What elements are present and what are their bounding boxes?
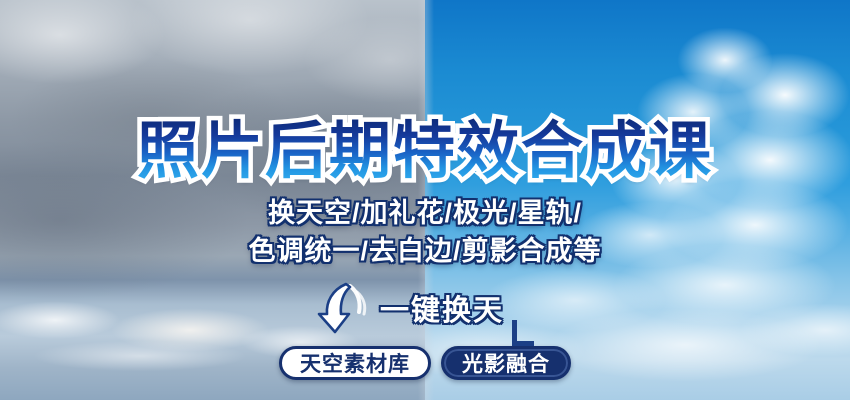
one-key-sky-swap-row: 一键换天	[316, 280, 534, 336]
banner-content: 照片后期特效合成课 照片后期特效合成课 换天空/加礼花/极光/星轨/ 色调统一/…	[0, 0, 850, 400]
feature-pill-group: 天空素材库 光影融合	[279, 346, 571, 380]
pill-sky-asset-library[interactable]: 天空素材库	[279, 346, 431, 380]
curved-down-arrow-icon	[316, 280, 374, 336]
sky-replacement-course-banner: 照片后期特效合成课 照片后期特效合成课 换天空/加礼花/极光/星轨/ 色调统一/…	[0, 0, 850, 400]
banner-subtitle-line-1: 换天空/加礼花/极光/星轨/	[268, 196, 582, 230]
one-key-sky-swap-label: 一键换天	[380, 287, 504, 329]
corner-bracket-mark	[512, 320, 534, 346]
banner-subtitle-line-2: 色调统一/去白边/剪影合成等	[248, 234, 601, 268]
pill-light-shadow-blend[interactable]: 光影融合	[441, 346, 571, 380]
banner-title-fill: 照片后期特效合成课	[137, 117, 713, 186]
banner-title: 照片后期特效合成课 照片后期特效合成课	[137, 116, 713, 188]
